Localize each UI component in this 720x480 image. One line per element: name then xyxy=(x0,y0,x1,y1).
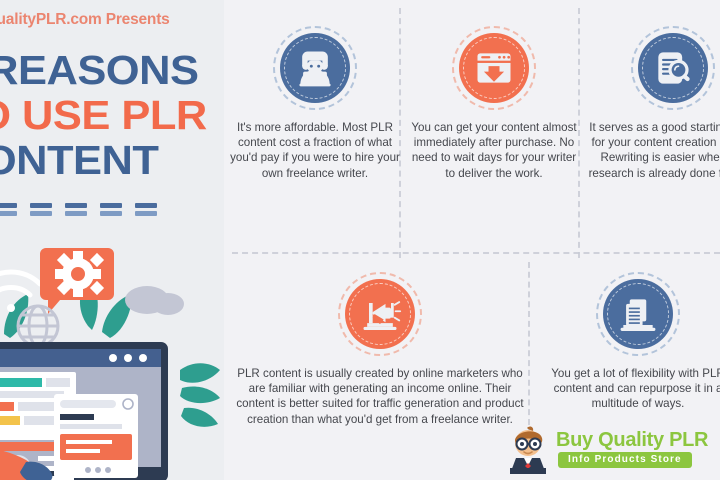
reason-card-5: You get a lot of flexibility with PLR co… xyxy=(538,272,720,412)
dash-pair xyxy=(0,203,17,216)
cloud-icon xyxy=(125,286,184,315)
reason-2-badge xyxy=(452,26,536,110)
dash-pair xyxy=(100,203,122,216)
badge-disc xyxy=(638,33,708,103)
monitor-icon xyxy=(0,342,168,480)
dash-pair xyxy=(135,203,157,216)
infographic-canvas: BuyQualityPLR.com Presents 5 REASONS TO … xyxy=(0,0,720,480)
reason-card-1: It's more affordable. Most PLR content c… xyxy=(230,26,400,181)
badge-disc xyxy=(280,33,350,103)
divider-horizontal-1 xyxy=(232,252,720,254)
gear-bubble-icon xyxy=(40,248,114,314)
documents-laptop-icon xyxy=(616,292,660,336)
decorative-dash-row xyxy=(0,203,157,216)
reason-1-text: It's more affordable. Most PLR content c… xyxy=(230,120,400,181)
megaphone-laptop-icon xyxy=(358,292,402,336)
reason-4-text: PLR content is usually created by online… xyxy=(232,366,528,427)
reason-3-text: It serves as a good starting point for y… xyxy=(588,120,720,181)
reason-1-badge xyxy=(273,26,357,110)
brand-logo[interactable]: Buy Quality PLR Info Products Store xyxy=(498,426,712,474)
browser-download-icon xyxy=(472,46,516,90)
reason-card-4: PLR content is usually created by online… xyxy=(232,272,528,427)
document-magnifier-icon xyxy=(651,46,695,90)
reason-3-badge xyxy=(631,26,715,110)
dash-pair xyxy=(30,203,52,216)
badge-disc xyxy=(459,33,529,103)
title-line-3: CONTENT xyxy=(0,140,158,181)
badge-disc xyxy=(603,279,673,349)
dash-pair xyxy=(65,203,87,216)
logo-tagline: Info Products Store xyxy=(558,452,692,468)
reason-2-text: You can get your content almost immediat… xyxy=(409,120,579,181)
badge-disc xyxy=(345,279,415,349)
globe-icon xyxy=(18,306,58,346)
left-title-panel: BuyQualityPLR.com Presents 5 REASONS TO … xyxy=(0,0,224,480)
mascot-boy-icon xyxy=(500,426,556,474)
reason-4-badge xyxy=(338,272,422,356)
reason-5-text: You get a lot of flexibility with PLR co… xyxy=(538,366,720,412)
presents-header: BuyQualityPLR.com Presents xyxy=(0,11,224,29)
workspace-illustration xyxy=(0,238,224,480)
person-at-laptop-icon xyxy=(293,46,337,90)
reason-5-badge xyxy=(596,272,680,356)
title-line-2: TO USE PLR xyxy=(0,95,207,136)
title-line-1: 5 REASONS xyxy=(0,50,198,91)
reason-card-3: It serves as a good starting point for y… xyxy=(588,26,720,181)
reason-card-2: You can get your content almost immediat… xyxy=(409,26,579,181)
logo-name: Buy Quality PLR xyxy=(556,429,708,452)
